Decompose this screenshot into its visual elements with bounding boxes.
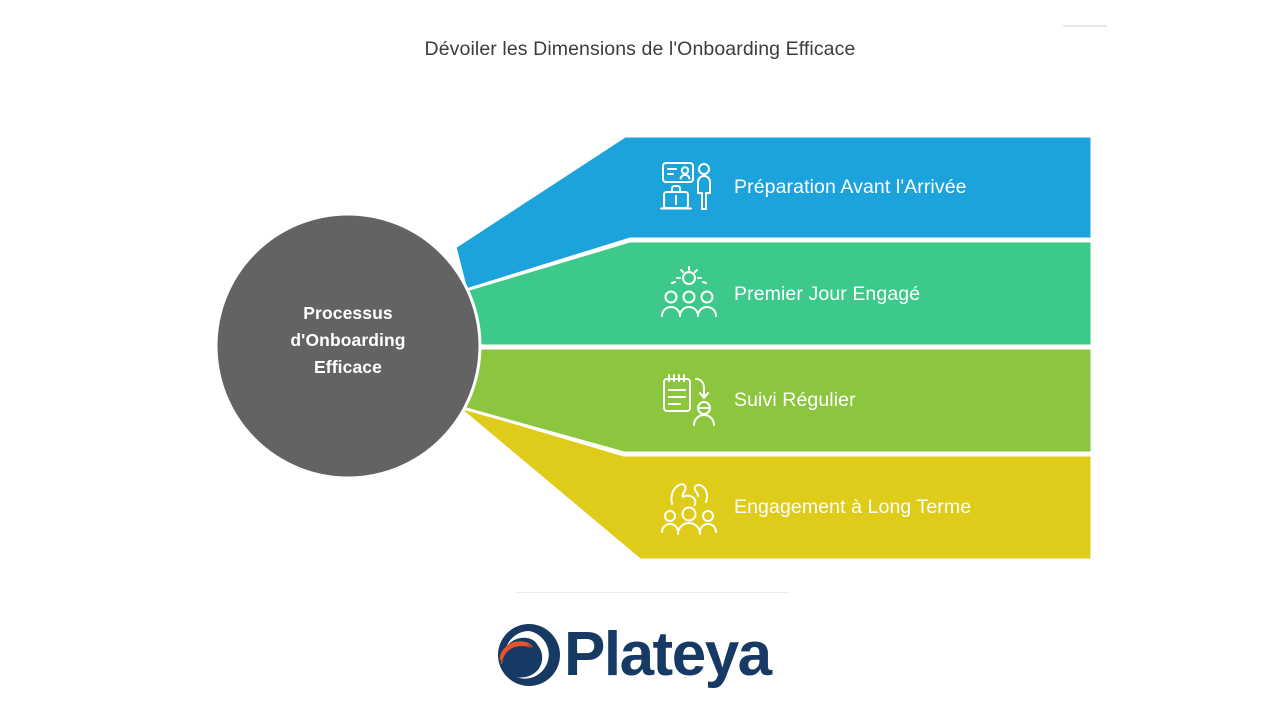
band-row-suivi-regulier[interactable]: Suivi Régulier (660, 368, 856, 432)
band-label-engagement-long-terme: Engagement à Long Terme (734, 496, 971, 519)
plateya-logo-mark-icon (490, 616, 568, 694)
plateya-logo: Plateya (490, 610, 790, 700)
hands-protecting-people-icon (660, 478, 718, 536)
footer-divider (515, 592, 790, 593)
band-label-premier-jour-engage: Premier Jour Engagé (734, 283, 920, 306)
id-badge-luggage-person-icon (660, 158, 718, 216)
sun-over-people-icon (660, 265, 718, 323)
slide-canvas: Dévoiler les Dimensions de l'Onboarding … (0, 0, 1280, 720)
band-row-preparation-avant-arrivee[interactable]: Préparation Avant l'Arrivée (660, 155, 967, 219)
hub-circle[interactable] (216, 214, 480, 478)
band-label-suivi-regulier: Suivi Régulier (734, 389, 856, 412)
band-row-premier-jour-engage[interactable]: Premier Jour Engagé (660, 262, 920, 326)
plateya-logo-wordmark: Plateya (564, 624, 771, 686)
band-row-engagement-long-terme[interactable]: Engagement à Long Terme (660, 475, 971, 539)
band-label-preparation-avant-arrivee: Préparation Avant l'Arrivée (734, 176, 967, 199)
notepad-arrow-person-icon (660, 371, 718, 429)
